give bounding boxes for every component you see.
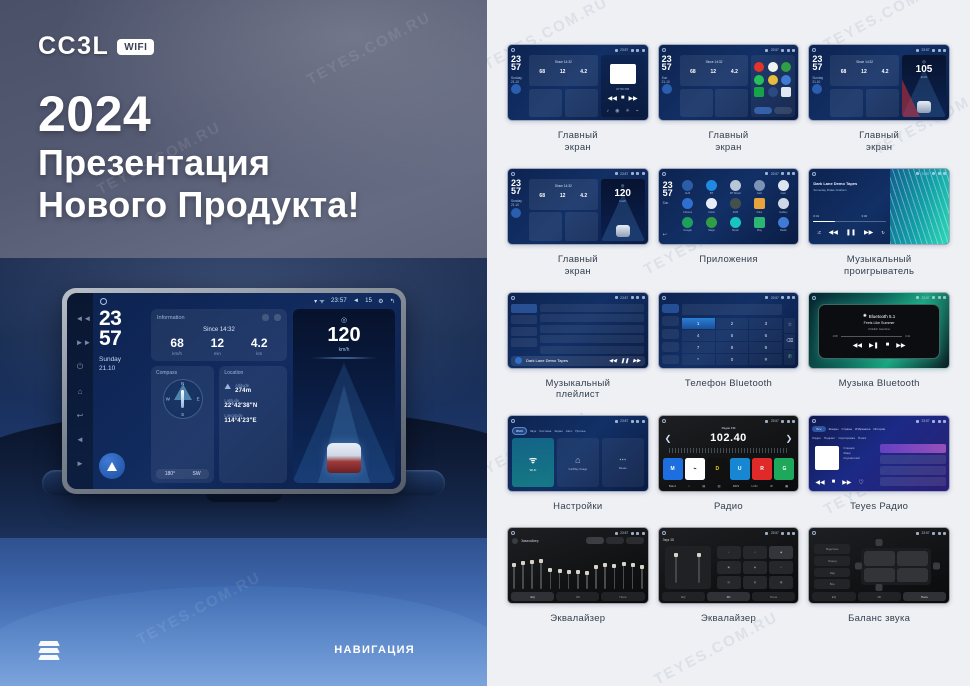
key-star[interactable]: *: [682, 354, 715, 365]
hero-title-line1: Презентация: [38, 143, 458, 183]
tab-car[interactable]: Авто: [566, 429, 573, 433]
hud-panel[interactable]: ◎ 120 km/h: [293, 309, 395, 483]
gallery-item[interactable]: 23:57 2357Sunday21.10 Since 14:32 68124.…: [507, 168, 649, 278]
preset-4[interactable]: U: [730, 458, 750, 480]
dock-3d[interactable]: 3D: [556, 592, 599, 601]
mode-3[interactable]: ◈: [769, 546, 793, 559]
filter-search[interactable]: Поиск: [858, 436, 866, 440]
gallery-item[interactable]: 23:57 2357Sunday21.10 Since 14:32 68124.…: [808, 44, 950, 154]
thumb-home-hud[interactable]: 23:57 2357Sunday21.10 Since 14:32 68124.…: [808, 44, 950, 121]
app-shortcuts-widget[interactable]: [751, 55, 795, 117]
navigation-button[interactable]: [99, 453, 125, 479]
filter-radio[interactable]: Радио: [812, 436, 821, 440]
key-0[interactable]: 0: [716, 354, 749, 365]
equalizer-dock[interactable]: EQ 3D Поле: [511, 592, 645, 601]
wifi-icon: ᯤ: [529, 453, 537, 466]
list-icon[interactable]: ▤: [702, 484, 705, 488]
equalizer-sliders[interactable]: [513, 550, 643, 589]
compass-card[interactable]: [680, 89, 713, 117]
compass-w: W: [166, 397, 170, 402]
prev-icon[interactable]: ◀◀: [829, 229, 838, 236]
item-caption: Приложения: [699, 254, 758, 266]
progress-bar[interactable]: [813, 221, 886, 222]
head-unit-screen[interactable]: ▾ ᯤ 23:57 ◄ 15 ⚙ ↰ 23 57: [93, 293, 401, 489]
eq-band-15: [641, 565, 643, 590]
search-icon[interactable]: ⌕: [688, 484, 690, 488]
navigation-button[interactable]: [511, 84, 521, 94]
settings-tabs[interactable]: Wi-Fi Звук Система Экран Авто Прочее: [512, 427, 644, 434]
settings-icon[interactable]: ⚙: [770, 484, 773, 488]
back-icon[interactable]: ↩: [76, 411, 85, 420]
home-icon[interactable]: [812, 172, 816, 176]
wifi-icon: [765, 420, 768, 423]
status-time: 23:57: [922, 172, 930, 176]
stop-icon[interactable]: ■: [832, 479, 836, 486]
home-icon[interactable]: [662, 172, 666, 176]
media-dock[interactable]: ♪◉✳⌁: [604, 108, 642, 114]
teyes-controls[interactable]: ◀◀■ ▶▶♡: [815, 479, 875, 486]
app-calculator[interactable]: Calc: [748, 180, 770, 196]
wifi-icon: [916, 296, 919, 299]
maps-icon[interactable]: [781, 62, 791, 72]
settings-tiles[interactable]: ᯤWi-Fi ⌂CarPlay Usage ⋯Меню: [512, 438, 644, 487]
thumb-teyes-radio[interactable]: 23:57 ВсеЖанры СтраныИзбранное История Р…: [808, 415, 950, 492]
tile-wifi[interactable]: ᯤWi-Fi: [512, 438, 554, 487]
key-6[interactable]: 6: [749, 330, 782, 341]
wifi-icon: [615, 296, 618, 299]
station-list[interactable]: [880, 444, 946, 487]
app-icon[interactable]: [768, 62, 778, 72]
altitude-value: 274m: [235, 388, 251, 394]
frequency-scale[interactable]: [669, 448, 789, 453]
youtube-icon[interactable]: [754, 62, 764, 72]
hero-year: 2024: [38, 88, 458, 141]
thumb-bt-phone[interactable]: 23:57 1 2 3 4 5 6 7 8: [658, 292, 800, 369]
teyes-filter-row[interactable]: РадиоПодкаст СортировкаПоиск: [812, 435, 946, 441]
call-icon[interactable]: ✆: [784, 350, 795, 365]
item-caption: Главныйэкран: [558, 254, 598, 278]
volume-down-icon[interactable]: ◄: [76, 435, 85, 444]
prev-icon[interactable]: ◀◀: [815, 479, 824, 486]
wifi-icon: [916, 49, 919, 52]
dialer-sidebar[interactable]: [662, 304, 679, 365]
tab-display[interactable]: Экран: [554, 429, 562, 433]
location-title: Location: [224, 370, 282, 376]
eq-band-14: [632, 563, 634, 589]
key-1[interactable]: 1: [682, 318, 715, 329]
gallery-item[interactable]: 23:57 Радио FM ❮ ❯ 102.40 M ⌁ D U R G: [658, 415, 800, 513]
back-icon: [642, 296, 645, 299]
gallery-item[interactable]: 23:57 ✺ Bluetooth 5.1 Feels Like Summer …: [808, 292, 950, 402]
play-pause-icon[interactable]: ▶❚: [869, 342, 879, 349]
home-icon[interactable]: [511, 531, 515, 535]
compass-card[interactable]: [529, 212, 562, 240]
clock-minutes: 57: [99, 329, 145, 349]
gear-icon: [938, 49, 941, 52]
volume-icon: [932, 49, 935, 52]
track-title: Dark Lane Demo Tapes: [813, 181, 891, 186]
home-icon[interactable]: [662, 531, 666, 535]
key-7[interactable]: 7: [682, 342, 715, 353]
mode-8[interactable]: ▥: [743, 576, 767, 589]
sidebar-item-contacts: [662, 316, 679, 326]
prev-icon[interactable]: ◀◀: [853, 342, 862, 349]
next-icon[interactable]: ▶▶: [864, 229, 873, 236]
home-icon[interactable]: [511, 48, 515, 52]
gallery-item[interactable]: 23:57 ВодительПеред ЗадВсе EQ 3D Поле: [808, 527, 950, 625]
wifi-icon: [765, 49, 768, 52]
next-icon[interactable]: ▶▶: [896, 342, 905, 349]
preset-rear[interactable]: Зад: [814, 568, 850, 578]
app-chrome[interactable]: Chrome: [677, 198, 699, 214]
preset-3[interactable]: D: [707, 458, 727, 480]
dock-eq[interactable]: EQ: [812, 592, 855, 601]
favorite-icon[interactable]: ♡: [858, 479, 863, 486]
location-card[interactable]: [565, 89, 598, 117]
home-icon[interactable]: [511, 419, 515, 423]
player-controls[interactable]: ⤮ ◀◀ ❚❚ ▶▶ ↻: [813, 229, 888, 236]
gear-icon: [636, 532, 639, 535]
band-icon[interactable]: Band: [669, 484, 676, 488]
gear-icon: [636, 49, 639, 52]
mode-5[interactable]: ◉: [743, 561, 767, 574]
speaker-icon: [512, 538, 518, 544]
location-card[interactable]: Location ⛰ Altitude 274m: [219, 366, 287, 483]
status-bar: ▾ ᯤ 23:57 ◄ 15 ⚙ ↰: [314, 297, 395, 305]
app-aux[interactable]: AUX: [677, 180, 699, 196]
compass-card[interactable]: [830, 89, 863, 117]
dock-tab-1[interactable]: [754, 107, 772, 114]
eq-band-8: [577, 570, 579, 590]
gallery-icon[interactable]: [768, 75, 778, 85]
mode-2[interactable]: ♫: [743, 546, 767, 559]
dock-3d[interactable]: 3D: [707, 592, 750, 601]
dock-eq[interactable]: EQ: [511, 592, 554, 601]
sound-mode-grid[interactable]: ♪♫◈ ▣◉◐ ▤▥▦: [717, 546, 794, 589]
home-icon[interactable]: ⌂: [76, 387, 85, 396]
now-playing-bar[interactable]: Dark Lane Demo Tapes ◀◀❚❚▶▶: [511, 356, 645, 366]
list-item: [880, 444, 946, 453]
information-card[interactable]: Since 14:32 68124.2: [680, 55, 749, 86]
bt-controls[interactable]: ◀◀ ▶❚ ■ ▶▶: [853, 342, 906, 349]
key-3[interactable]: 3: [749, 318, 782, 329]
eq-band-10: [595, 565, 597, 589]
back-icon: [792, 532, 795, 535]
home-icon[interactable]: [662, 48, 666, 52]
preset-1[interactable]: M: [663, 458, 683, 480]
dock-3d[interactable]: 3D: [858, 592, 901, 601]
spotify-icon[interactable]: [754, 75, 764, 85]
location-card[interactable]: [565, 212, 598, 240]
media-widget[interactable]: 07:50 PM ◀◀■▶▶ ♪◉✳⌁: [601, 55, 645, 117]
now-playing-title: Dark Lane Demo Tapes: [526, 358, 568, 363]
app-bt-music[interactable]: BT Music: [725, 180, 747, 196]
eq-band-1: [513, 563, 515, 590]
home-icon[interactable]: [812, 48, 816, 52]
app-clock[interactable]: Clock: [701, 198, 723, 214]
home-icon[interactable]: [812, 419, 816, 423]
home-icon[interactable]: [812, 531, 816, 535]
location-card[interactable]: [715, 89, 748, 117]
information-card[interactable]: Since 14:32 68124.2: [529, 55, 598, 86]
navigation-button[interactable]: [511, 208, 521, 218]
thumb-home-hud2[interactable]: 23:57 2357Sunday21.10 Since 14:32 68124.…: [507, 168, 649, 245]
balance-presets[interactable]: ВодительПеред ЗадВсе: [814, 544, 850, 589]
all-apps-icon[interactable]: [781, 87, 791, 97]
gallery-item[interactable]: 23:57 2357Sun21.10 Since 14:32 68124.2: [658, 44, 800, 154]
app-music[interactable]: Music: [725, 217, 747, 233]
preset-front[interactable]: Перед: [814, 556, 850, 566]
apps-icon[interactable]: ▦: [785, 484, 788, 488]
balance-pad[interactable]: [861, 548, 931, 585]
status-time: 23:57: [620, 531, 628, 535]
equalizer-dock[interactable]: EQ 3D Поле: [662, 592, 796, 601]
tile-menu[interactable]: ⋯Меню: [602, 438, 644, 487]
mode-9[interactable]: ▦: [769, 576, 793, 589]
gallery-item[interactable]: 23:57 1 2 3 4 5 6 7 8: [658, 292, 800, 402]
volume-up-icon[interactable]: ►: [76, 459, 85, 468]
key-9[interactable]: 9: [749, 342, 782, 353]
thumb-equalizer[interactable]: 23:57 Эквалайзер EQ 3D: [507, 527, 649, 604]
tile-carplay[interactable]: ⌂CarPlay Usage: [557, 438, 599, 487]
preset-jazz[interactable]: [626, 537, 644, 544]
radio-presets[interactable]: M ⌁ D U R G: [663, 458, 795, 480]
next-track-icon[interactable]: ►►: [76, 338, 85, 347]
key-4[interactable]: 4: [682, 330, 715, 341]
settings-icon[interactable]: [768, 87, 778, 97]
prev-track-icon[interactable]: ◄◄: [76, 314, 85, 323]
gallery-item[interactable]: 23:57 2357Sunday21.10 Since 14:32 68124.…: [507, 44, 649, 154]
gallery-item[interactable]: 23:57 Dark Lane Demo Tapes ◀◀❚❚▶▶: [507, 292, 649, 402]
home-icon[interactable]: [662, 296, 666, 300]
location-card[interactable]: [866, 89, 899, 117]
since-label: Since 14:32: [532, 60, 595, 64]
gallery-item[interactable]: 23:57 Dark Lane Demo Tapes Someday Drake…: [808, 168, 950, 278]
tab-wifi[interactable]: Wi-Fi: [512, 427, 527, 435]
gallery-item[interactable]: 23:57 ВсеЖанры СтраныИзбранное История Р…: [808, 415, 950, 513]
navigation-button[interactable]: [662, 84, 672, 94]
gear-icon: [938, 296, 941, 299]
volume-icon: [631, 420, 634, 423]
item-caption: Главныйэкран: [558, 130, 598, 154]
repeat-icon[interactable]: ↻: [881, 230, 884, 235]
key-2[interactable]: 2: [716, 318, 749, 329]
home-icon[interactable]: [812, 296, 816, 300]
play-store-icon[interactable]: [754, 87, 764, 97]
mini-clock: 2357Sunday21.10: [511, 179, 526, 241]
mode-1[interactable]: ♪: [717, 546, 741, 559]
preset-6[interactable]: G: [774, 458, 794, 480]
side-button-rail[interactable]: ◄◄ ►► ⏻ ⌂ ↩ ◄ ►: [67, 293, 93, 489]
app-play-store[interactable]: Play: [748, 217, 770, 233]
app-google[interactable]: Google: [677, 217, 699, 233]
balance-up-button[interactable]: [876, 539, 883, 546]
station-artwork: [815, 446, 839, 470]
mini-controls[interactable]: ◀◀❚❚▶▶: [609, 358, 641, 364]
key-5[interactable]: 5: [716, 330, 749, 341]
key-hash[interactable]: #: [749, 354, 782, 365]
app-camera[interactable]: Cam: [772, 180, 794, 196]
app-filemanager[interactable]: Files: [748, 198, 770, 214]
thumb-settings[interactable]: 23:57 Wi-Fi Звук Система Экран Авто Проч…: [507, 415, 649, 492]
gear-icon[interactable]: ⚙: [378, 298, 384, 305]
since-label: Since 14:32: [833, 60, 896, 64]
thumb-sound-balance[interactable]: 23:57 ВодительПеред ЗадВсе EQ 3D Поле: [808, 527, 950, 604]
eq-band-7: [568, 570, 570, 589]
eq-icon[interactable]: ▥: [718, 484, 721, 488]
wifi-icon: [615, 532, 618, 535]
dialer-actions[interactable]: ☆ ⌫ ✆: [784, 318, 795, 365]
navigation-label: НАВИГАЦИЯ: [334, 644, 415, 656]
menu-icon: ⋯: [619, 456, 626, 464]
sidebar-item-artists: [511, 327, 537, 336]
stop-icon: ■: [621, 95, 625, 102]
navigation-button[interactable]: [812, 84, 822, 94]
preset-pop[interactable]: [586, 537, 604, 544]
teyes-top-tabs[interactable]: ВсеЖанры СтраныИзбранное История: [812, 426, 946, 432]
total-time: 4:41: [905, 335, 910, 338]
watermark: TEYES.COM.RU: [304, 9, 434, 89]
hud-speed-value: 120: [601, 188, 645, 199]
hud-widget[interactable]: ◎ 120 km/h: [601, 179, 645, 241]
playlist-track-list[interactable]: [540, 304, 644, 355]
tab-other[interactable]: Прочее: [575, 429, 585, 433]
playlist-sidebar[interactable]: [511, 304, 537, 355]
loc-icon[interactable]: LOC: [752, 484, 758, 488]
preset-rock[interactable]: [606, 537, 624, 544]
hero-footer: НАВИГАЦИЯ: [0, 616, 487, 686]
compass-card[interactable]: Compass N S W E: [151, 366, 214, 483]
balance-right-button[interactable]: [933, 562, 940, 569]
next-icon[interactable]: ▶▶: [842, 479, 851, 486]
thumb-radio[interactable]: 23:57 Радио FM ❮ ❯ 102.40 M ⌁ D U R G: [658, 415, 800, 492]
tab-history[interactable]: История: [873, 427, 885, 431]
wifi-icon: [765, 172, 768, 175]
carplay-icon: ⌂: [575, 455, 580, 465]
dock-field[interactable]: Поле: [752, 592, 795, 601]
tab-sound[interactable]: Звук: [530, 429, 536, 433]
home-icon[interactable]: [662, 419, 666, 423]
slider-treble: [698, 553, 700, 583]
hud-car-model: [327, 443, 361, 473]
equalizer-presets[interactable]: [586, 537, 644, 544]
radio-dock[interactable]: Band⌕ ▤▥ RDSLOC ⚙▦: [663, 482, 795, 489]
gallery-item[interactable]: 23:57 Звук 3D ♪♫◈ ▣◉◐ ▤▥▦ EQ 3D Поле: [658, 527, 800, 625]
brand-model: CC3L: [38, 32, 109, 61]
app-bluetooth[interactable]: BT: [701, 180, 723, 196]
app-radio[interactable]: Radio: [772, 217, 794, 233]
app-maps[interactable]: Maps: [701, 217, 723, 233]
dock-field[interactable]: Поле: [601, 592, 644, 601]
thumb-home-media[interactable]: 23:57 2357Sunday21.10 Since 14:32 68124.…: [507, 44, 649, 121]
screen-home-icon[interactable]: [100, 298, 107, 305]
balance-left-button[interactable]: [855, 562, 862, 569]
app-grid[interactable]: AUX BT BT Music Calc Cam Chrome Clock DV…: [677, 180, 795, 240]
thumb-apps[interactable]: 23:57 2357Sun AUX BT BT Music Calc Cam C…: [658, 168, 800, 245]
thumb-playlist[interactable]: 23:57 Dark Lane Demo Tapes ◀◀❚❚▶▶: [507, 292, 649, 369]
gallery-item[interactable]: 23:57 Эквалайзер EQ 3D: [507, 527, 649, 625]
dock-field[interactable]: Поле: [903, 592, 946, 601]
mode-4[interactable]: ▣: [717, 561, 741, 574]
dock-eq[interactable]: EQ: [662, 592, 705, 601]
wifi-icon: [916, 532, 919, 535]
next-icon: ▶▶: [628, 95, 637, 102]
dock-tab-2[interactable]: [774, 107, 792, 114]
list-item: [540, 335, 644, 343]
compass-card[interactable]: [529, 89, 562, 117]
hud-widget[interactable]: ◎ 105 km/h: [902, 55, 946, 117]
progress-bar[interactable]: [841, 336, 903, 337]
app-dvr[interactable]: DVR: [725, 198, 747, 214]
gallery-item[interactable]: 23:57 2357Sun AUX BT BT Music Calc Cam C…: [658, 168, 800, 278]
head-unit-device: ◄◄ ►► ⏻ ⌂ ↩ ◄ ► ▾ ᯤ 23:57 ◄: [62, 288, 406, 494]
information-card[interactable]: Since 14:32 68124.2: [830, 55, 899, 86]
app-gallery[interactable]: Gallery: [772, 198, 794, 214]
gallery-item[interactable]: 23:57 Wi-Fi Звук Система Экран Авто Проч…: [507, 415, 649, 513]
back-icon[interactable]: ↩: [663, 232, 667, 238]
information-card[interactable]: Information Since 14:32 68 km/h: [151, 309, 287, 361]
stop-icon[interactable]: ■: [886, 342, 890, 349]
thumb-home-apps[interactable]: 23:57 2357Sun21.10 Since 14:32 68124.2: [658, 44, 800, 121]
card-expand-icon[interactable]: [274, 314, 281, 321]
phone-number-field[interactable]: [682, 304, 783, 315]
home-icon[interactable]: [511, 296, 515, 300]
shuffle-icon[interactable]: ⤮: [817, 230, 820, 235]
status-time: 23:57: [620, 172, 628, 176]
screens-gallery-panel: TEYES.COM.RU TEYES.COM.RU TEYES.COM.RU T…: [487, 0, 970, 686]
preset-5[interactable]: R: [752, 458, 772, 480]
volume-icon: [781, 296, 784, 299]
key-8[interactable]: 8: [716, 342, 749, 353]
thumb-equalizer-3d[interactable]: 23:57 Звук 3D ♪♫◈ ▣◉◐ ▤▥▦ EQ 3D Поле: [658, 527, 800, 604]
card-option-icon[interactable]: [262, 314, 269, 321]
filter-sort[interactable]: Сортировка: [838, 436, 854, 440]
tab-favorites[interactable]: Избранное: [855, 427, 870, 431]
pause-icon[interactable]: ❚❚: [846, 229, 856, 236]
information-card[interactable]: Since 14:32 68124.2: [529, 179, 598, 210]
tab-system[interactable]: Система: [539, 429, 551, 433]
mode-7[interactable]: ▤: [717, 576, 741, 589]
rds-icon[interactable]: RDS: [733, 484, 739, 488]
balance-down-button[interactable]: [876, 584, 883, 591]
power-icon[interactable]: ⏻: [76, 362, 85, 371]
tab-genres[interactable]: Жанры: [829, 427, 839, 431]
mode-6[interactable]: ◐: [769, 561, 793, 574]
volume-icon: [781, 172, 784, 175]
tab-countries[interactable]: Страны: [841, 427, 852, 431]
thumb-bt-music[interactable]: 23:57 ✺ Bluetooth 5.1 Feels Like Summer …: [808, 292, 950, 369]
backspace-icon[interactable]: ⌫: [784, 334, 795, 349]
tab-all[interactable]: Все: [812, 426, 825, 432]
track-artist: Someday Drake Graham: [813, 188, 891, 192]
files-icon[interactable]: [781, 75, 791, 85]
media-controls[interactable]: ◀◀■▶▶: [606, 95, 640, 102]
wifi-icon: [615, 172, 618, 175]
dual-sliders[interactable]: [665, 546, 711, 589]
preset-2[interactable]: ⌁: [685, 458, 705, 480]
home-icon[interactable]: [511, 172, 515, 176]
preset-all[interactable]: Все: [814, 579, 850, 589]
dialpad[interactable]: 1 2 3 4 5 6 7 8 9 * 0 #: [682, 318, 783, 365]
sidebar-item-favorites: [662, 342, 679, 352]
back-icon[interactable]: ↰: [390, 298, 395, 305]
equalizer-dock[interactable]: EQ 3D Поле: [812, 592, 946, 601]
thumb-music-player[interactable]: 23:57 Dark Lane Demo Tapes Someday Drake…: [808, 168, 950, 245]
brand-logo: CC3L WIFI: [38, 32, 154, 61]
favorite-icon[interactable]: ☆: [784, 318, 795, 333]
filter-podcast[interactable]: Подкаст: [824, 436, 835, 440]
preset-driver[interactable]: Водитель: [814, 544, 850, 554]
